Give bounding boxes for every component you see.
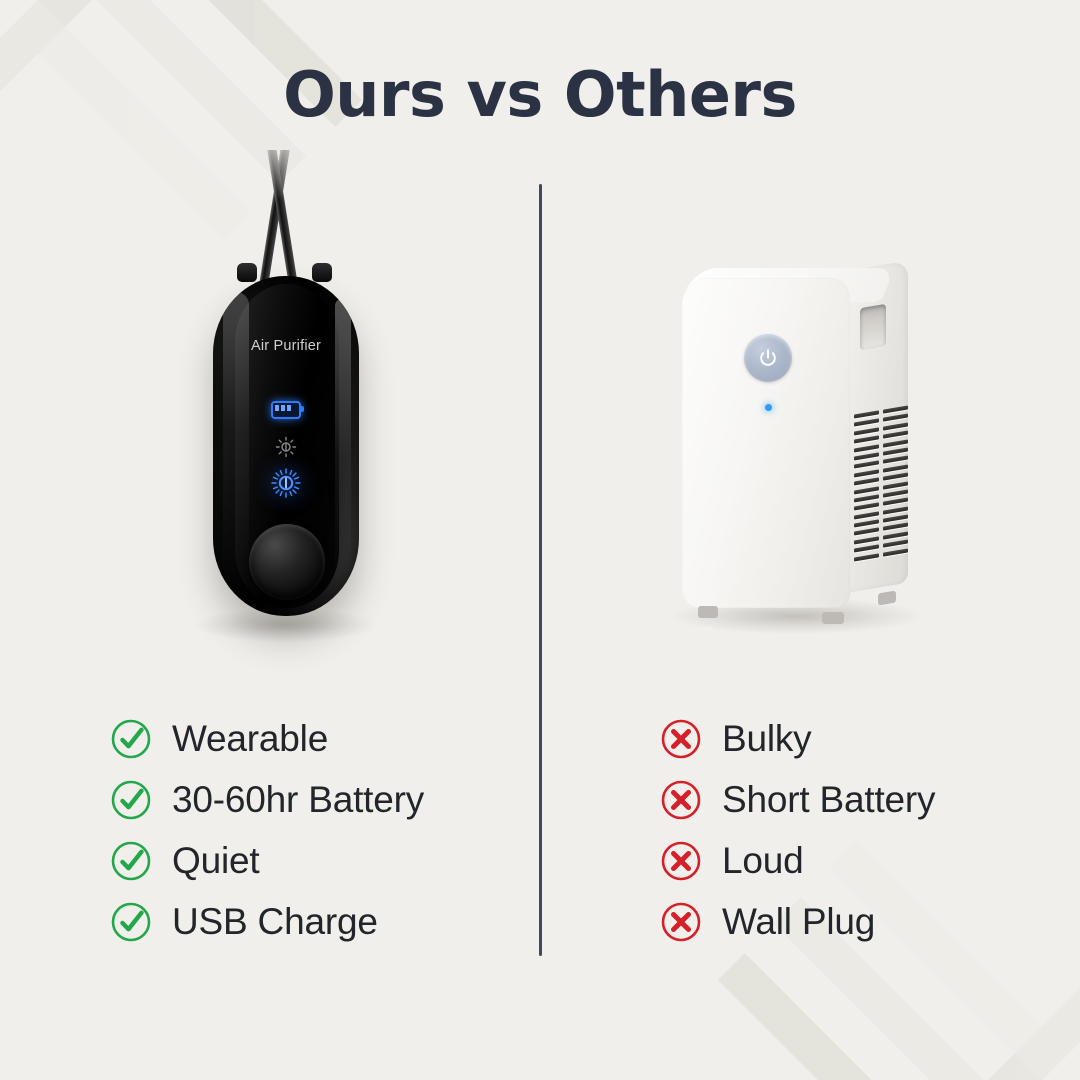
base-foot [822,612,844,624]
lanyard-post-right [312,263,332,282]
list-item: USB Charge [108,891,424,952]
base-foot [698,606,718,618]
cross-circle-icon [658,716,704,762]
list-item-label: Short Battery [722,779,935,821]
list-item: Wall Plug [658,891,935,952]
battery-icon [213,401,359,424]
check-circle-icon [108,777,154,823]
base-foot [878,591,896,606]
power-button[interactable] [744,334,792,382]
list-item-label: Wall Plug [722,901,875,943]
list-item-label: Loud [722,840,804,882]
list-item: Loud [658,830,935,891]
cross-circle-icon [658,777,704,823]
page-title: Ours vs Others [0,58,1080,131]
list-item-label: USB Charge [172,901,378,943]
list-item: Short Battery [658,769,935,830]
infographic-canvas: Ours vs Others Air Purifier [0,0,1080,1080]
cross-circle-icon [658,838,704,884]
check-circle-icon [108,899,154,945]
list-item-label: Bulky [722,718,811,760]
brightness-sun-icon [213,436,359,463]
list-item-label: Quiet [172,840,259,882]
check-circle-icon [108,838,154,884]
wearable-purifier-image: Air Purifier [185,150,385,650]
list-item: Wearable [108,708,424,769]
carry-handle-recess [860,304,886,350]
list-item: 30-60hr Battery [108,769,424,830]
status-led [765,404,772,411]
tower-purifier-image [672,262,922,642]
device-body: Air Purifier [213,276,359,616]
list-item-label: 30-60hr Battery [172,779,424,821]
neck-lanyard [185,150,385,290]
list-item: Bulky [658,708,935,769]
ours-feature-list: Wearable 30-60hr Battery Quiet [108,708,424,952]
vertical-divider [539,184,542,956]
side-air-vents [854,405,908,592]
list-item: Quiet [108,830,424,891]
lanyard-post-left [237,263,257,282]
list-item-label: Wearable [172,718,328,760]
ionizer-gear-icon [213,468,359,503]
device-front-panel [682,278,850,608]
cross-circle-icon [658,899,704,945]
check-circle-icon [108,716,154,762]
device-brand-label: Air Purifier [213,338,359,354]
device-power-button[interactable] [249,524,325,600]
others-feature-list: Bulky Short Battery Loud [658,708,935,952]
